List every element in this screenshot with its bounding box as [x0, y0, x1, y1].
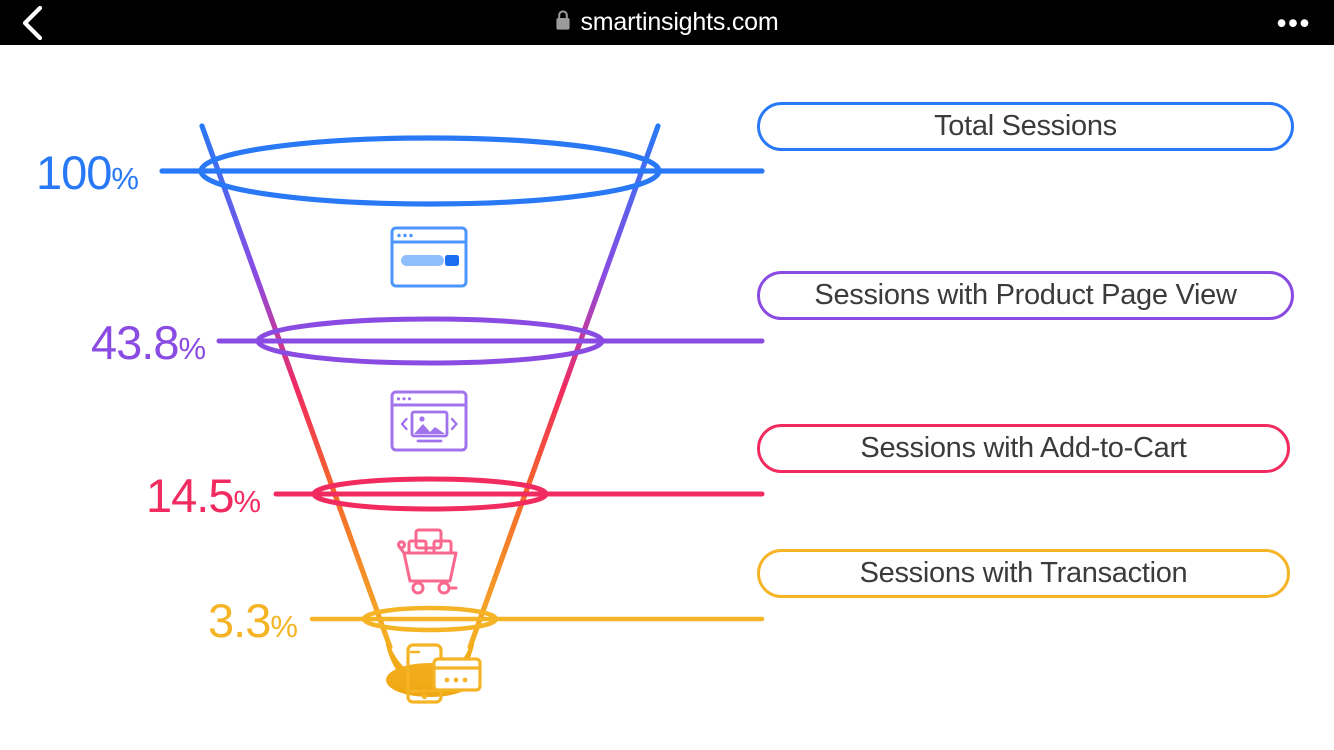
- funnel-stage-label-1: Total Sessions: [934, 110, 1117, 143]
- ellipsis-icon: •••: [1277, 18, 1311, 28]
- funnel-stage-1-graphics: [162, 138, 762, 204]
- lock-icon: [555, 9, 571, 36]
- funnel-stage-pill-add-to-cart[interactable]: Sessions with Add-to-Cart: [757, 424, 1290, 473]
- funnel-value-symbol-2: %: [178, 331, 205, 366]
- funnel-stage-label-3: Sessions with Add-to-Cart: [860, 432, 1186, 465]
- funnel-stage-pill-product-page-view[interactable]: Sessions with Product Page View: [757, 271, 1294, 320]
- funnel-value-label-2: 43.8%: [91, 319, 206, 366]
- funnel-value-number-4: 3.3: [208, 594, 270, 647]
- funnel-value-label-3: 14.5%: [146, 472, 261, 519]
- funnel-value-number-1: 100: [36, 146, 111, 199]
- funnel-stage-4-graphics: [312, 608, 762, 630]
- funnel-value-number-3: 14.5: [146, 469, 233, 522]
- shopping-cart-icon: [399, 530, 456, 593]
- clipped-paragraph-bottom: [0, 746, 1334, 750]
- address-display[interactable]: smartinsights.com: [0, 0, 1334, 45]
- site-domain-label: smartinsights.com: [580, 8, 778, 37]
- product-image-carousel-icon: [392, 392, 466, 450]
- funnel-stage-pill-transaction[interactable]: Sessions with Transaction: [757, 549, 1290, 598]
- funnel-stage-label-4: Sessions with Transaction: [860, 557, 1188, 590]
- funnel-stage-2-graphics: [219, 319, 762, 363]
- page-content: 100% 43.8% 14.5% 3.3% Total Sessions Ses…: [0, 45, 1334, 750]
- funnel-value-symbol-4: %: [270, 609, 297, 644]
- browser-top-bar: smartinsights.com •••: [0, 0, 1334, 45]
- funnel-stage-pill-total-sessions[interactable]: Total Sessions: [757, 102, 1294, 151]
- funnel-value-label-1: 100%: [36, 149, 139, 196]
- funnel-value-symbol-3: %: [233, 484, 260, 519]
- conversion-funnel-figure: 100% 43.8% 14.5% 3.3% Total Sessions Ses…: [0, 45, 1334, 750]
- funnel-value-symbol-1: %: [111, 161, 138, 196]
- more-options-button[interactable]: •••: [1268, 0, 1320, 45]
- funnel-stage-label-2: Sessions with Product Page View: [814, 279, 1236, 312]
- funnel-value-label-4: 3.3%: [208, 597, 297, 644]
- funnel-value-number-2: 43.8: [91, 316, 178, 369]
- funnel-stage-3-graphics: [276, 479, 762, 509]
- browser-search-bar-icon: [392, 228, 466, 286]
